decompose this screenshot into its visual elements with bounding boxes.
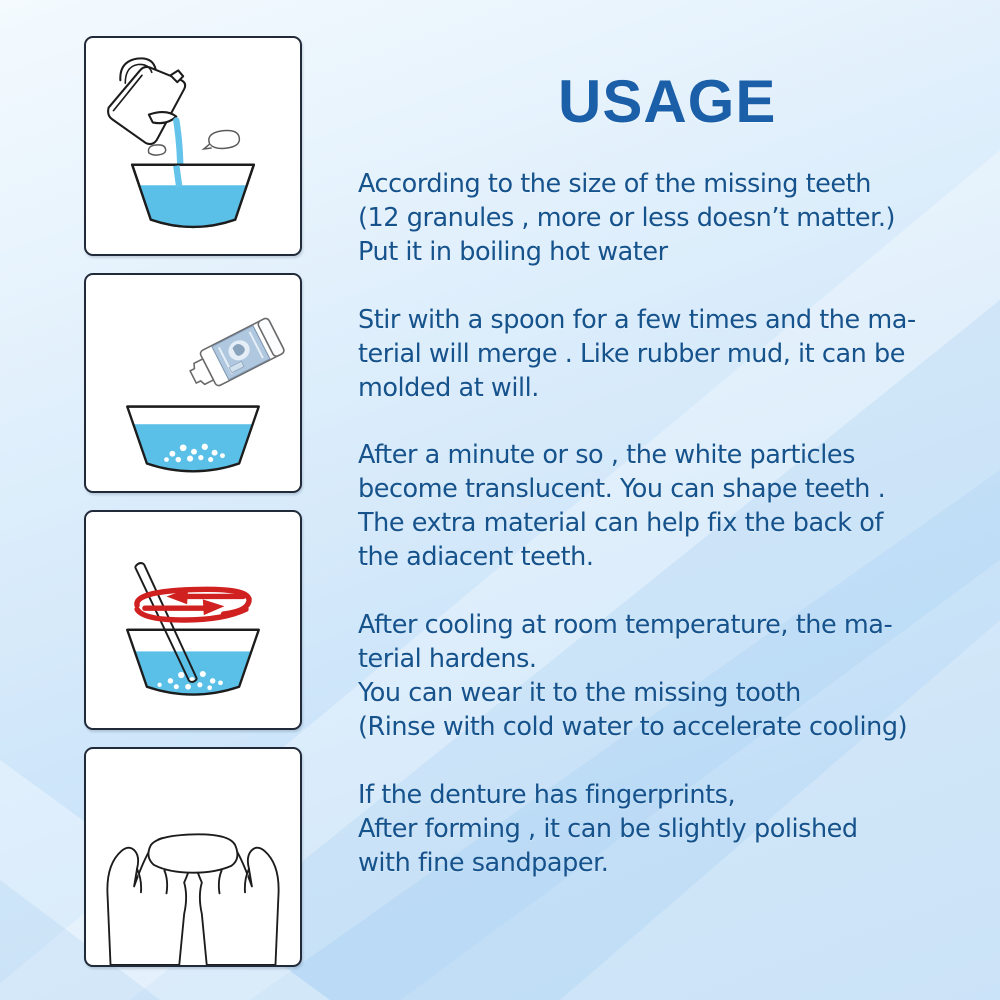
bowl-icon xyxy=(125,630,262,710)
illustration-panel-column xyxy=(84,36,306,967)
instruction-step-2: Stir with a spoon for a few times and th… xyxy=(358,304,958,406)
panel-hands-molding xyxy=(84,747,302,967)
granule-bottle-icon xyxy=(184,317,285,394)
denture-shape xyxy=(148,834,237,872)
instruction-text-column: USAGE According to the size of the missi… xyxy=(358,72,958,880)
bowl-icon xyxy=(125,407,262,484)
instruction-step-3: After a minute or so , the white particl… xyxy=(358,439,958,575)
page-title: USAGE xyxy=(558,72,958,132)
instruction-step-5: If the denture has fingerprints, After f… xyxy=(358,779,958,881)
instruction-step-4: After cooling at room temperature, the m… xyxy=(358,609,958,745)
panel-kettle-pouring xyxy=(84,36,302,256)
steam-wisps xyxy=(148,131,239,156)
bowl-icon xyxy=(130,165,258,240)
kettle-icon xyxy=(108,58,185,144)
usage-instruction-poster: USAGE According to the size of the missi… xyxy=(0,0,1000,1000)
panel-bottle-granules xyxy=(84,273,302,493)
instruction-step-1: According to the size of the missing tee… xyxy=(358,168,958,270)
panel-stirring xyxy=(84,510,302,730)
